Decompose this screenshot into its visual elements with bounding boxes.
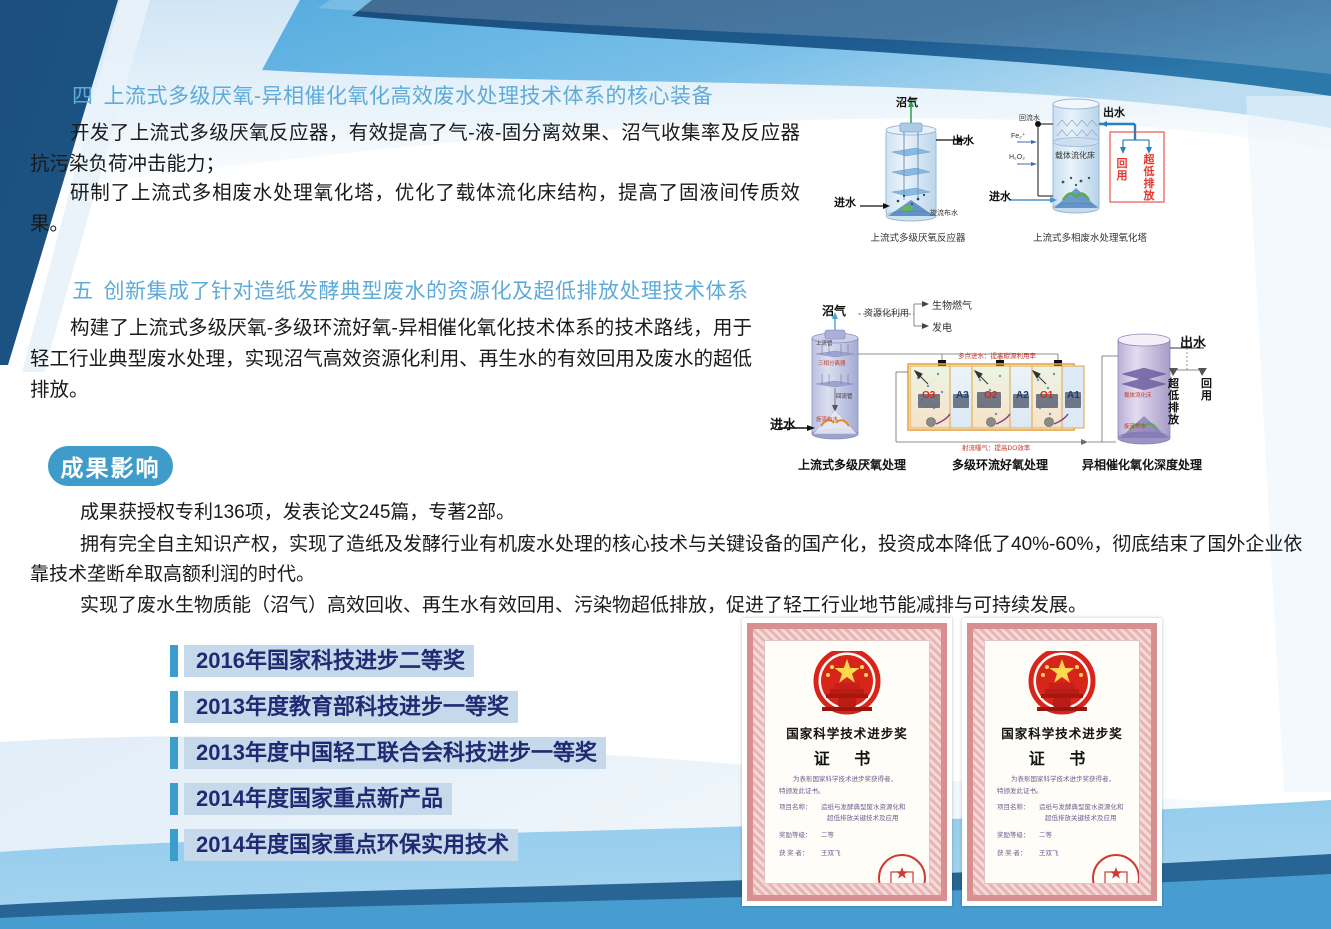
- certificate-grade-value: 二等: [821, 829, 834, 839]
- certificate-body-line-2: 特颁发此证书。: [779, 785, 825, 795]
- label-swirl-distributor: 旋流布水: [816, 415, 838, 423]
- certificate-body-line-1: 为表彰国家科学技术进步奖获得者，: [793, 773, 897, 783]
- awards-list: 2016年国家科技进步二等奖 2013年度教育部科技进步一等奖 2013年度中国…: [170, 645, 606, 875]
- label-effluent: 出水: [1180, 332, 1206, 351]
- section-number-4: 四: [72, 85, 94, 108]
- label-resource-utilization: 资源化利用: [864, 306, 909, 319]
- award-item: 2014年度国家重点环保实用技术: [170, 829, 606, 861]
- label-biofuel-gas: 生物燃气: [932, 297, 972, 312]
- anaerobic-reactor-svg: [838, 96, 998, 228]
- label-effluent: 出水: [952, 132, 974, 148]
- label-three-phase-separator: 三相分离器: [818, 359, 846, 367]
- caption-anaerobic-reactor: 上流式多级厌氧反应器: [838, 230, 998, 244]
- section-5-paragraph-1: 构建了上流式多级厌氧-多级环流好氧-异相催化氧化技术体系的技术路线，用于轻工行业…: [30, 313, 752, 406]
- label-effluent: 出水: [1103, 104, 1125, 120]
- label-carrier-bed: 载体流化床: [1124, 391, 1152, 399]
- certificate-body-line-2: 特颁发此证书。: [997, 785, 1043, 795]
- label-ultra-low-discharge: 超低排放: [1168, 378, 1182, 426]
- section-heading-4: 四上流式多级厌氧-异相催化氧化高效废水处理技术体系的核心装备: [72, 80, 713, 110]
- certificate-project-value-1: 造纸与发酵典型废水资源化和: [1039, 801, 1124, 811]
- impact-paragraph-2: 拥有完全自主知识产权，实现了造纸及发酵行业有机废水处理的核心技术与关键设备的国产…: [30, 530, 1315, 590]
- section-heading-5: 五创新集成了针对造纸发酵典型废水的资源化及超低排放处理技术体系: [72, 275, 749, 305]
- tank-label-o2: O2: [984, 390, 997, 401]
- certificate-face: 国家科学技术进步奖 证 书 为表彰国家科学技术进步奖获得者， 特颁发此证书。 项…: [764, 640, 930, 884]
- certificate-project-value-1: 造纸与发酵典型废水资源化和: [821, 801, 906, 811]
- certificate-winner-value: 王双飞: [821, 847, 841, 857]
- tank-label-o1: O1: [1040, 390, 1053, 401]
- certificate-border: 国家科学技术进步奖 证 书 为表彰国家科学技术进步奖获得者， 特颁发此证书。 项…: [967, 623, 1157, 901]
- award-label: 2016年国家科技进步二等奖: [184, 645, 474, 677]
- label-multi-point-inlet: 多点进水：提高碳源利用率: [958, 350, 1036, 360]
- certificate-body-line-1: 为表彰国家科学技术进步奖获得者，: [1011, 773, 1115, 783]
- slide-canvas: 四上流式多级厌氧-异相催化氧化高效废水处理技术体系的核心装备 开发了上流式多级厌…: [0, 0, 1331, 929]
- label-jet-aeration: 射流曝气：提高DO效率: [962, 442, 1030, 452]
- certificate-title: 国家科学技术进步奖: [765, 723, 929, 742]
- certificate-border: 国家科学技术进步奖 证 书 为表彰国家科学技术进步奖获得者， 特颁发此证书。 项…: [747, 623, 947, 901]
- caption-oxidation-tower: 上流式多相废水处理氧化塔: [995, 230, 1185, 244]
- certificate-image-1: 国家科学技术进步奖 证 书 为表彰国家科学技术进步奖获得者， 特颁发此证书。 项…: [742, 618, 952, 906]
- section-title-5: 创新集成了针对造纸发酵典型废水的资源化及超低排放处理技术体系: [104, 280, 749, 303]
- label-upflow-pipe: 上流管: [816, 339, 833, 347]
- tank-label-a2: A2: [1016, 390, 1029, 401]
- certificate-subtitle: 证 书: [985, 745, 1139, 769]
- label-influent: 进水: [989, 188, 1011, 204]
- certificate-grade-label: 奖励等级：: [779, 829, 812, 839]
- award-item: 2013年度中国轻工联合会科技进步一等奖: [170, 737, 606, 769]
- certificate-winner-label: 获 奖 者：: [779, 847, 808, 857]
- impact-badge-label: 成果影响: [61, 449, 161, 483]
- award-label: 2013年度教育部科技进步一等奖: [184, 691, 518, 723]
- label-fe-ion: Fe₂⁺: [1011, 132, 1026, 140]
- official-seal-icon: [1091, 853, 1140, 884]
- award-bar-icon: [170, 737, 178, 769]
- label-biogas: 沼气: [896, 94, 918, 110]
- impact-badge: 成果影响: [48, 446, 173, 486]
- award-bar-icon: [170, 691, 178, 723]
- certificate-project-value-2: 超低排放关键技术及应用: [827, 812, 899, 822]
- label-ultra-low-discharge: 超低排放: [1142, 154, 1156, 202]
- award-label: 2013年度中国轻工联合会科技进步一等奖: [184, 737, 606, 769]
- award-item: 2016年国家科技进步二等奖: [170, 645, 606, 677]
- certificate-image-2: 国家科学技术进步奖 证 书 为表彰国家科学技术进步奖获得者， 特颁发此证书。 项…: [962, 618, 1162, 906]
- award-item: 2013年度教育部科技进步一等奖: [170, 691, 606, 723]
- certificate-winner-label: 获 奖 者：: [997, 847, 1026, 857]
- section-4-paragraph-2: 研制了上流式多相废水处理氧化塔，优化了载体流化床结构，提高了固液间传质效果。: [30, 178, 800, 240]
- label-h2o2: H₂O₂: [1009, 154, 1025, 161]
- certificate-project-label: 项目名称：: [779, 801, 812, 811]
- award-label: 2014年度国家重点新产品: [184, 783, 452, 815]
- certificate-winner-value: 王双飞: [1039, 847, 1059, 857]
- award-item: 2014年度国家重点新产品: [170, 783, 606, 815]
- certificate-project-value-2: 超低排放关键技术及应用: [1045, 812, 1117, 822]
- certificate-grade-label: 奖励等级：: [997, 829, 1030, 839]
- label-distributor: 旋流布水: [930, 208, 958, 218]
- label-reflux-pipe: 回流管: [836, 392, 853, 400]
- impact-paragraph-1: 成果获授权专利136项，发表论文245篇，专著2部。: [42, 498, 802, 528]
- national-emblem-icon: [808, 651, 886, 717]
- award-bar-icon: [170, 829, 178, 861]
- caption-oxidation-stage: 异相催化氧化深度处理: [1066, 456, 1218, 473]
- label-reflux-water: 回流水: [1019, 113, 1040, 123]
- award-bar-icon: [170, 783, 178, 815]
- caption-aerobic-stage: 多级环流好氧处理: [930, 456, 1070, 473]
- certificate-subtitle: 证 书: [765, 745, 929, 769]
- award-label: 2014年度国家重点环保实用技术: [184, 829, 518, 861]
- label-biogas: 沼气: [822, 302, 846, 319]
- section-title-4: 上流式多级厌氧-异相催化氧化高效废水处理技术体系的核心装备: [104, 85, 714, 108]
- label-power-generation: 发电: [932, 319, 952, 334]
- impact-paragraph-3: 实现了废水生物质能（沼气）高效回收、再生水有效回用、污染物超低排放，促进了轻工行…: [42, 591, 1292, 621]
- label-influent: 进水: [770, 414, 796, 433]
- caption-anaerobic-stage: 上流式多级厌氧处理: [772, 456, 932, 473]
- section-number-5: 五: [72, 280, 94, 303]
- tank-label-o3: O3: [922, 390, 935, 401]
- national-emblem-icon: [1023, 651, 1101, 717]
- certificate-face: 国家科学技术进步奖 证 书 为表彰国家科学技术进步奖获得者， 特颁发此证书。 项…: [984, 640, 1140, 884]
- diagram-upflow-anaerobic-reactor: 沼气 出水 进水 旋流布水 上流式多级厌氧反应器: [838, 96, 998, 246]
- tank-label-a1: A1: [1067, 390, 1080, 401]
- diagram-process-flow: 沼气 资源化利用 生物燃气 发电 进水 出水 多点进水：提高碳源利用率 射流曝气…: [772, 296, 1220, 472]
- label-swirl-distributor-2: 旋流布水: [1124, 422, 1146, 430]
- diagram-oxidation-tower: 回流水 Fe₂⁺ H₂O₂ 载体流化床 出水 进水 回用 超低排放 上流式多相废…: [995, 96, 1185, 246]
- section-4-paragraph-1: 开发了上流式多级厌氧反应器，有效提高了气-液-固分离效果、沼气收集率及反应器抗污…: [30, 118, 800, 180]
- certificate-title: 国家科学技术进步奖: [985, 723, 1139, 742]
- certificate-grade-value: 二等: [1039, 829, 1052, 839]
- label-carrier-bed: 载体流化床: [1055, 150, 1095, 161]
- certificate-project-label: 项目名称：: [997, 801, 1030, 811]
- label-reuse: 回用: [1201, 378, 1215, 402]
- process-flow-svg: [772, 296, 1220, 456]
- official-seal-icon: [877, 853, 927, 884]
- tank-label-a3: A3: [956, 390, 969, 401]
- label-reuse: 回用: [1115, 158, 1129, 182]
- label-influent: 进水: [834, 194, 856, 210]
- award-bar-icon: [170, 645, 178, 677]
